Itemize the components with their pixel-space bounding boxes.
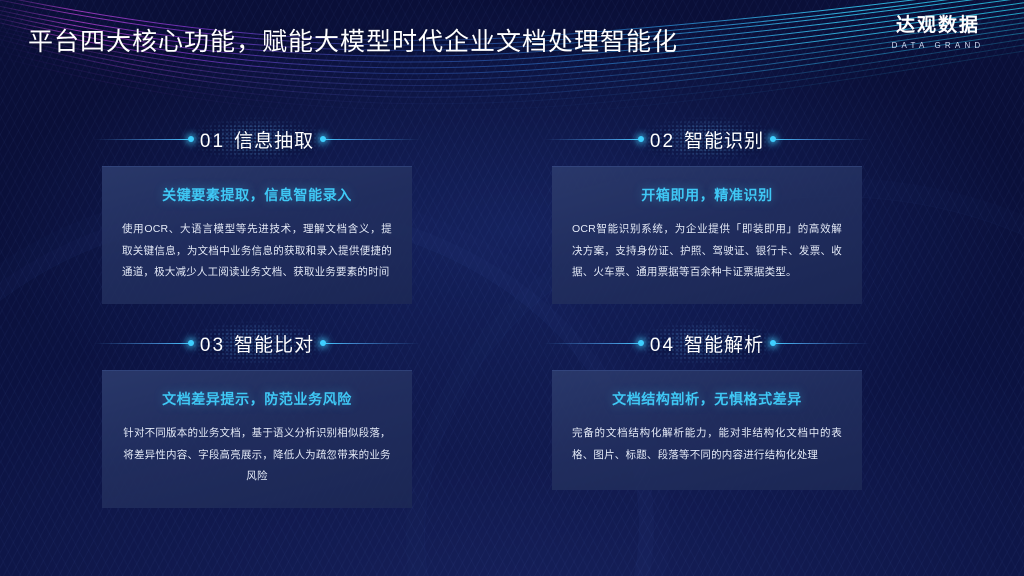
slide-canvas: 平台四大核心功能，赋能大模型时代企业文档处理智能化 达观数据 DATA GRAN… [0,0,1024,576]
feature-description-02: OCR智能识别系统，为企业提供「即装即用」的高效解决方案，支持身份证、护照、驾驶… [572,219,842,284]
page-title: 平台四大核心功能，赋能大模型时代企业文档处理智能化 [28,22,678,58]
feature-card-04: 文档结构剖析，无惧格式差异 完备的文档结构化解析能力，能对非结构化文档中的表格、… [552,370,862,490]
brand-logo-en: DATA GRAND [868,41,1008,50]
feature-block-02[interactable]: 02智能识别 开箱即用，精准识别 OCR智能识别系统，为企业提供「即装即用」的高… [552,118,862,304]
feature-subtitle-02: 开箱即用，精准识别 [572,185,842,205]
feature-subtitle-04: 文档结构剖析，无惧格式差异 [572,389,842,409]
feature-title-04: 智能解析 [684,335,764,356]
feature-block-04[interactable]: 04智能解析 文档结构剖析，无惧格式差异 完备的文档结构化解析能力，能对非结构化… [552,322,862,490]
feature-number-01: 01 [200,131,225,152]
feature-header-label-03: 03智能比对 [200,330,314,357]
connector-line-left [94,139,190,140]
connector-line-right [774,139,870,140]
connector-line-left [544,139,640,140]
feature-header-04: 04智能解析 [552,322,862,364]
feature-title-02: 智能识别 [684,131,764,152]
connector-line-left [94,343,190,344]
connector-dot-right-icon [320,340,326,346]
brand-logo-cn: 达观数据 [868,16,1008,37]
connector-line-right [324,343,420,344]
connector-line-right [774,343,870,344]
connector-dot-left-icon [188,136,194,142]
feature-card-03: 文档差异提示，防范业务风险 针对不同版本的业务文档，基于语义分析识别相似段落，将… [102,370,412,508]
feature-block-03[interactable]: 03智能比对 文档差异提示，防范业务风险 针对不同版本的业务文档，基于语义分析识… [102,322,412,508]
connector-dot-left-icon [188,340,194,346]
brand-logo: 达观数据 DATA GRAND [868,16,1008,50]
feature-header-01: 01信息抽取 [102,118,412,160]
connector-dot-left-icon [638,136,644,142]
feature-number-04: 04 [650,335,675,356]
feature-block-01[interactable]: 01信息抽取 关键要素提取，信息智能录入 使用OCR、大语言模型等先进技术，理解… [102,118,412,304]
connector-dot-right-icon [770,340,776,346]
feature-header-02: 02智能识别 [552,118,862,160]
feature-number-03: 03 [200,335,225,356]
feature-description-03: 针对不同版本的业务文档，基于语义分析识别相似段落，将差异性内容、字段高亮展示，降… [122,423,392,488]
feature-description-01: 使用OCR、大语言模型等先进技术，理解文档含义，提取关键信息，为文档中业务信息的… [122,219,392,284]
feature-header-label-01: 01信息抽取 [200,126,314,153]
connector-dot-right-icon [320,136,326,142]
feature-number-02: 02 [650,131,675,152]
feature-title-03: 智能比对 [234,335,314,356]
connector-line-right [324,139,420,140]
connector-dot-right-icon [770,136,776,142]
feature-header-label-04: 04智能解析 [650,330,764,357]
feature-description-04: 完备的文档结构化解析能力，能对非结构化文档中的表格、图片、标题、段落等不同的内容… [572,423,842,466]
feature-subtitle-01: 关键要素提取，信息智能录入 [122,185,392,205]
feature-subtitle-03: 文档差异提示，防范业务风险 [122,389,392,409]
feature-title-01: 信息抽取 [234,131,314,152]
feature-card-02: 开箱即用，精准识别 OCR智能识别系统，为企业提供「即装即用」的高效解决方案，支… [552,166,862,304]
feature-card-01: 关键要素提取，信息智能录入 使用OCR、大语言模型等先进技术，理解文档含义，提取… [102,166,412,304]
connector-line-left [544,343,640,344]
feature-header-03: 03智能比对 [102,322,412,364]
connector-dot-left-icon [638,340,644,346]
feature-header-label-02: 02智能识别 [650,126,764,153]
